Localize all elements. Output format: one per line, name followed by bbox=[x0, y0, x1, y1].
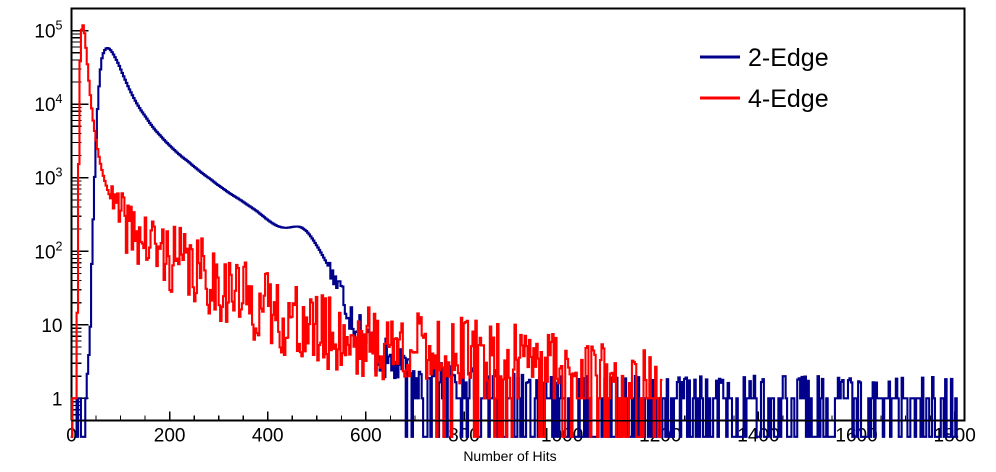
legend-label-4-edge: 4-Edge bbox=[748, 85, 829, 113]
x-tick-label: 200 bbox=[154, 426, 186, 447]
y-tick-label: 104 bbox=[34, 92, 62, 116]
x-axis-title: Number of Hits bbox=[463, 448, 556, 464]
x-tick-label: 400 bbox=[252, 426, 284, 447]
histogram-plot: 020040060080010001200140016001800 110102… bbox=[0, 0, 996, 472]
y-tick-label: 1 bbox=[52, 389, 63, 410]
y-tick-label: 10 bbox=[41, 316, 62, 337]
y-axis-tick-labels: 110102103104105 bbox=[34, 19, 62, 411]
y-tick-label: 103 bbox=[34, 166, 62, 190]
legend-label-2-edge: 2-Edge bbox=[748, 44, 829, 72]
chart-legend: 2-Edge4-Edge bbox=[700, 44, 829, 113]
series-4-edge bbox=[71, 25, 663, 437]
y-tick-label: 102 bbox=[34, 239, 62, 263]
y-tick-label: 105 bbox=[34, 19, 62, 43]
x-tick-label: 600 bbox=[350, 426, 382, 447]
chart-canvas: 020040060080010001200140016001800 110102… bbox=[0, 0, 996, 472]
